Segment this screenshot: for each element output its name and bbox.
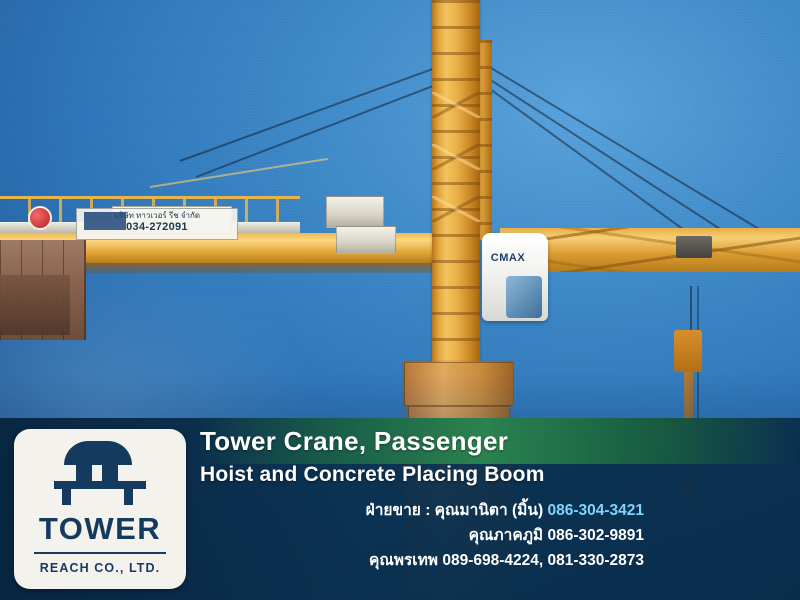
mast-brace-1: [432, 92, 480, 118]
contact-line: ฝ่ายขาย : คุณมานิตา (มิ้น) 086-304-3421: [200, 498, 644, 523]
hoist-trolley: [676, 236, 712, 258]
pendant-cable-right-3: [489, 88, 692, 237]
pendant-cable-left-1: [180, 61, 453, 162]
mast-brace-3: [432, 196, 480, 222]
contact-label: คุณภาคภูมิ: [469, 527, 543, 544]
tower-arch-icon: [52, 441, 148, 507]
company-logo-card: TOWER REACH CO., LTD.: [14, 429, 186, 589]
contact-line: คุณพรเทพ 089-698-4224, 081-330-2873: [200, 548, 644, 573]
pendant-cable-right-1: [485, 64, 769, 236]
banner-title-line-1: Tower Crane, Passenger: [200, 424, 790, 458]
logo-subtext: REACH CO., LTD.: [40, 561, 160, 575]
hook-block: [674, 330, 702, 372]
mast-brace-2: [432, 144, 480, 170]
small-logo-sticker: [84, 212, 126, 230]
contact-phone: 086-304-3421: [547, 502, 644, 519]
contact-list: ฝ่ายขาย : คุณมานิตา (มิ้น) 086-304-3421 …: [200, 498, 790, 573]
contact-phone: 089-698-4224, 081-330-2873: [442, 552, 644, 569]
counterweight-lower: [0, 275, 70, 335]
operator-cab-window: [506, 276, 542, 318]
banner-text-block: Tower Crane, Passenger Hoist and Concret…: [200, 424, 790, 573]
cab-brand-label: CMAX: [484, 252, 532, 264]
banner-title-line-2: Hoist and Concrete Placing Boom: [200, 460, 790, 490]
logo-divider: [34, 552, 166, 554]
pendant-cable-left-3: [150, 158, 328, 188]
logo-wordmark: TOWER: [39, 511, 161, 547]
photo-canvas: บริษัท ทาวเวอร์ รีช จำกัด 034-272091 CMA…: [0, 0, 800, 600]
contact-label: คุณพรเทพ: [369, 552, 438, 569]
pendant-cable-left-2: [196, 79, 451, 178]
pendant-cable-right-2: [485, 76, 738, 241]
contact-banner: TOWER REACH CO., LTD. Tower Crane, Passe…: [0, 418, 800, 600]
contact-phone: 086-302-9891: [547, 527, 644, 544]
machinery-box-1: [326, 196, 384, 228]
contact-label: ฝ่ายขาย : คุณมานิตา (มิ้น): [366, 502, 544, 519]
warning-marker-dot: [28, 206, 52, 230]
machinery-box-2: [336, 226, 396, 254]
contact-line: คุณภาคภูมิ 086-302-9891: [200, 523, 644, 548]
